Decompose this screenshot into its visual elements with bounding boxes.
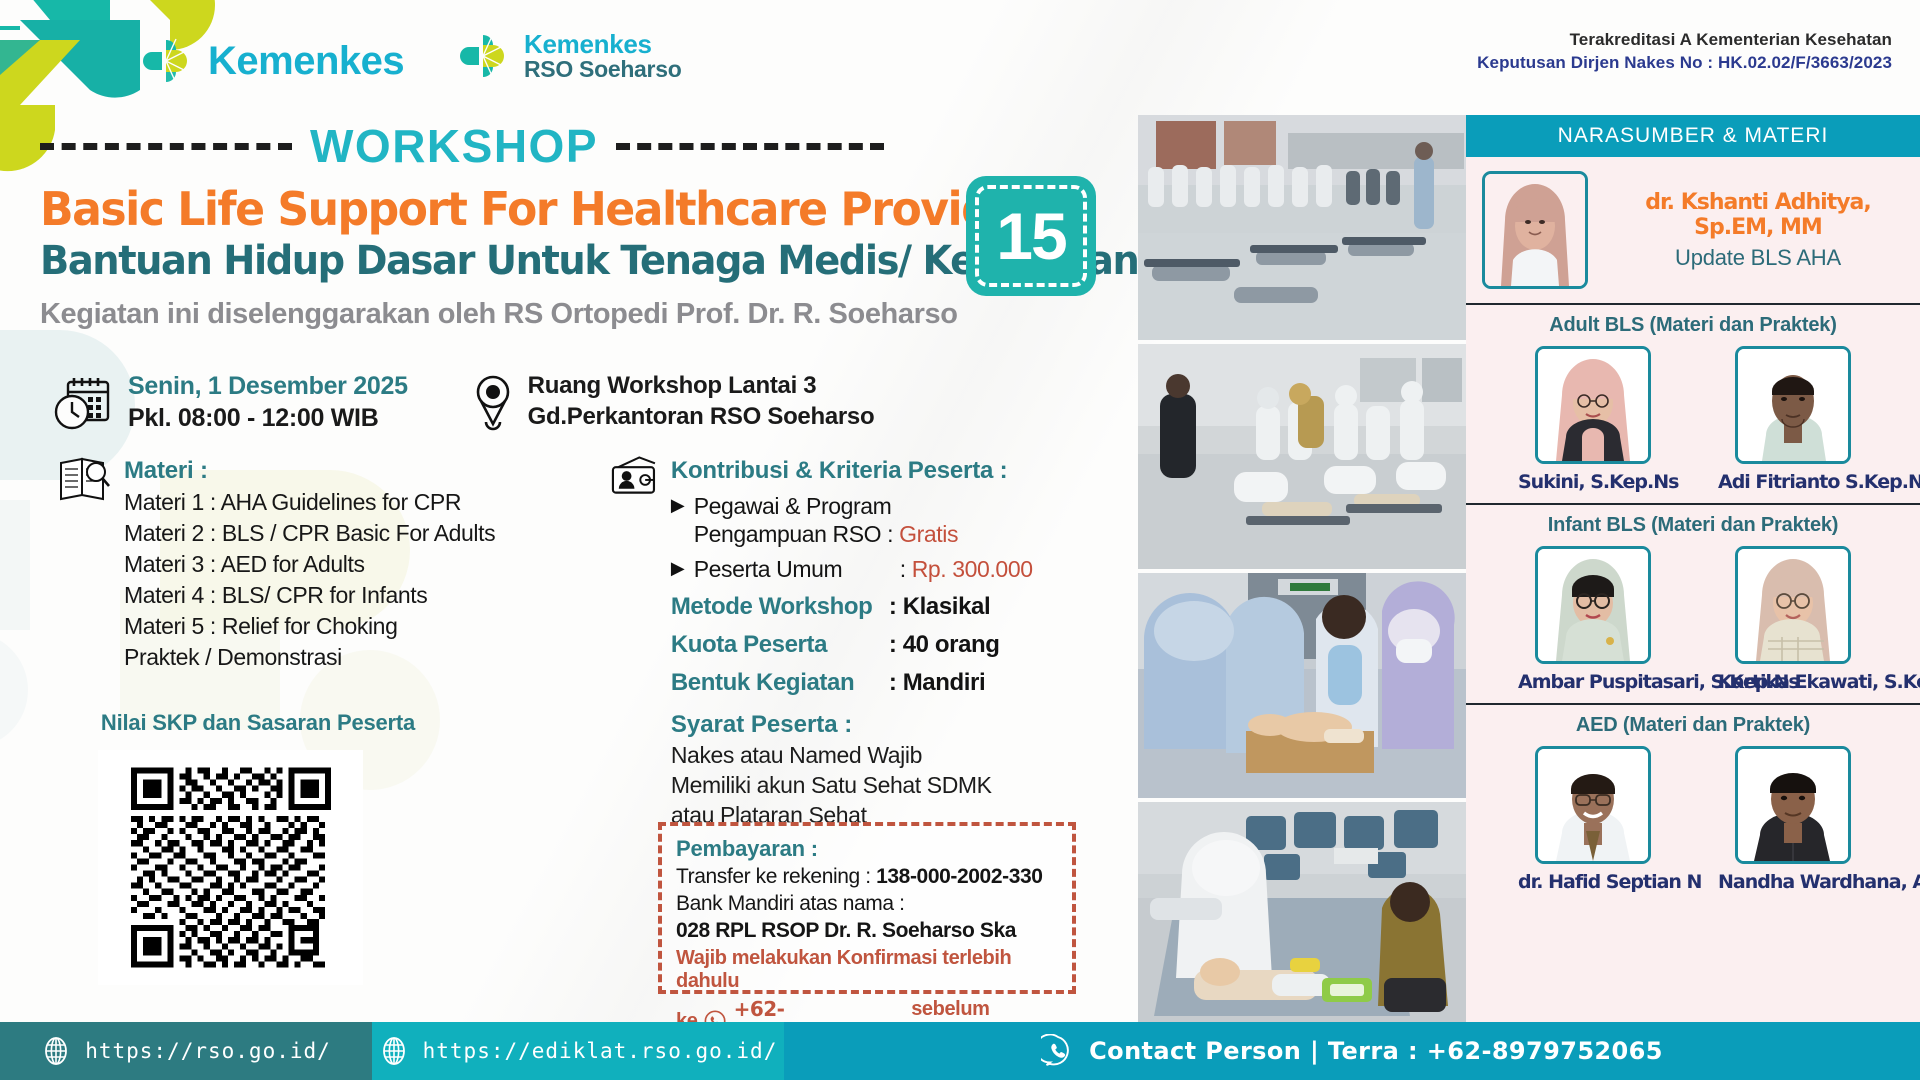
- payment-account-name: 028 RPL RSOP Dr. R. Soeharso Ska: [676, 919, 1016, 942]
- kontribusi-row-2: Peserta Umum : Rp. 300.000: [694, 555, 1033, 583]
- aed-speakers: dr. Hafid Septian N: [1466, 746, 1920, 893]
- title-main: Basic Life Support For Healthcare Provid…: [40, 182, 1096, 236]
- event-date: Senin, 1 Desember 2025: [128, 372, 408, 401]
- skp-block: Nilai SKP dan Sasaran Peserta: [98, 710, 418, 985]
- featured-speaker-photo-frame: [1482, 171, 1588, 289]
- kemenkes-logo: Kemenkes: [138, 36, 404, 86]
- wallet-member-icon: [610, 455, 659, 499]
- title-sub: Bantuan Hidup Dasar Untuk Tenaga Medis/ …: [40, 238, 1096, 284]
- footer-url-ediklat-cell[interactable]: https://ediklat.rso.go.id/: [372, 1022, 784, 1080]
- kontribusi-body: Kontribusi & Kriteria Peserta : ▶ Pegawa…: [671, 455, 1130, 829]
- logo-row: Kemenkes Kemenkes RSO Soeharso: [0, 0, 1160, 110]
- speaker-name: Nandha Wardhana, AMK: [1718, 871, 1868, 893]
- detail-key: Bentuk Kegiatan: [671, 669, 889, 697]
- speaker-cell: Kartika Ekawati, S.Kep.Ns: [1718, 546, 1868, 693]
- speakers-panel-title: NARASUMBER & MATERI: [1558, 124, 1829, 148]
- venue-item: Ruang Workshop Lantai 3 Gd.Perkantoran R…: [472, 372, 875, 434]
- speaker-name: dr. Hafid Septian N: [1518, 871, 1668, 893]
- footer-bar: https://rso.go.id/ https://ediklat.rso.g…: [0, 1022, 1920, 1080]
- materi-body: Materi : Materi 1 : AHA Guidelines for C…: [124, 455, 495, 671]
- edition-number: 15: [996, 198, 1065, 274]
- featured-speaker-name: dr. Kshanti Adhitya, Sp.EM, MM: [1606, 190, 1910, 240]
- speaker-photo-frame: [1535, 546, 1651, 664]
- portrait-hafid-septian: [1538, 749, 1648, 861]
- rso-wordmark-line1: Kemenkes: [524, 31, 681, 58]
- speaker-name: Ambar Puspitasari, S.Kep.Ns: [1518, 671, 1668, 693]
- whatsapp-phone-icon: [1041, 1034, 1075, 1068]
- venue-line-1: Ruang Workshop Lantai 3: [528, 372, 875, 400]
- workshop-kicker: WORKSHOP: [310, 119, 598, 173]
- schedule-block: Senin, 1 Desember 2025 Pkl. 08:00 - 12:0…: [52, 372, 1142, 434]
- kontribusi-heading: Kontribusi & Kriteria Peserta :: [671, 457, 1130, 485]
- globe-icon: [379, 1036, 409, 1066]
- kontribusi-label-1b-row: Pengampuan RSO : Gratis: [694, 520, 958, 548]
- adult-bls-speakers: Sukini, S.Kep.Ns: [1466, 346, 1920, 493]
- kemenkes-rso-logo: Kemenkes RSO Soeharso: [455, 30, 681, 82]
- payment-account-name-row: 028 RPL RSOP Dr. R. Soeharso Ska: [676, 919, 1058, 943]
- payment-account-number: 138-000-2002-330: [876, 865, 1042, 888]
- photo-group-cpr-practice: [1138, 344, 1466, 569]
- adult-bls-section: Adult BLS (Materi dan Praktek): [1466, 305, 1920, 505]
- syarat-line: Memiliki akun Satu Sehat SDMK: [671, 772, 1130, 799]
- workshop-kicker-row: WORKSHOP: [40, 122, 1140, 170]
- rso-wordmark-line2: RSO Soeharso: [524, 57, 681, 81]
- detail-row: Bentuk Kegiatan : Mandiri: [671, 669, 1130, 697]
- portrait-kartika-ekawati: [1738, 549, 1848, 661]
- speaker-cell: Nandha Wardhana, AMK: [1718, 746, 1868, 893]
- speaker-name: Adi Fitrianto S.Kep.Ns: [1718, 471, 1868, 493]
- syarat-line: Nakes atau Named Wajib: [671, 742, 1130, 769]
- aed-title: AED (Materi dan Praktek): [1466, 714, 1920, 737]
- portrait-nandha-wardhana: [1738, 749, 1848, 861]
- qr-code-container[interactable]: [98, 750, 363, 985]
- kontribusi-separator-2: :: [900, 556, 906, 582]
- event-photo-infant-practice: [1138, 573, 1466, 798]
- detail-row: Metode Workshop : Klasikal: [671, 593, 1130, 621]
- materi-item: Praktek / Demonstrasi: [124, 644, 495, 671]
- date-time-item: Senin, 1 Desember 2025 Pkl. 08:00 - 12:0…: [52, 372, 408, 434]
- infant-bls-title: Infant BLS (Materi dan Praktek): [1466, 514, 1920, 537]
- kontribusi-value-2: Rp. 300.000: [912, 556, 1033, 582]
- speaker-cell: Sukini, S.Kep.Ns: [1518, 346, 1668, 493]
- photo-aed-demonstration: [1138, 802, 1466, 1027]
- workshop-poster: Kemenkes Kemenkes RSO Soeharso Terakredi…: [0, 0, 1920, 1080]
- payment-heading: Pembayaran :: [676, 836, 1058, 862]
- portrait-ambar-puspitasari: [1538, 549, 1648, 661]
- edition-badge: 15: [966, 176, 1096, 296]
- materi-item: Materi 1 : AHA Guidelines for CPR: [124, 489, 495, 516]
- featured-speaker-topic: Update BLS AHA: [1606, 245, 1910, 271]
- featured-speaker-section: dr. Kshanti Adhitya, Sp.EM, MM Update BL…: [1466, 157, 1920, 305]
- portrait-sukini: [1538, 349, 1648, 461]
- detail-value: : 40 orang: [889, 631, 1000, 659]
- portrait-adi-fitrianto: [1738, 349, 1848, 461]
- portrait-kshanti-adhitya: [1485, 174, 1585, 286]
- detail-value: : Mandiri: [889, 669, 985, 697]
- detail-row: Kuota Peserta : 40 orang: [671, 631, 1130, 659]
- qr-code-icon[interactable]: [131, 760, 331, 975]
- payment-warning-line: Wajib melakukan Konfirmasi terlebih dahu…: [676, 947, 1058, 993]
- kontribusi-label-1b: Pengampuan RSO :: [694, 521, 893, 547]
- event-photo-aed-demo: [1138, 802, 1466, 1027]
- footer-contact-cell[interactable]: Contact Person | Terra : +62-8979752065: [784, 1022, 1920, 1080]
- infant-bls-speakers: Ambar Puspitasari, S.Kep.Ns: [1466, 546, 1920, 693]
- kontribusi-block: Kontribusi & Kriteria Peserta : ▶ Pegawa…: [610, 455, 1130, 829]
- triangle-bullet-icon: ▶: [671, 492, 685, 518]
- infant-bls-section: Infant BLS (Materi dan Praktek): [1466, 505, 1920, 705]
- dash-left-decoration: [40, 143, 292, 150]
- detail-value: : Klasikal: [889, 593, 990, 621]
- venue-line-2: Gd.Perkantoran RSO Soeharso: [528, 403, 875, 431]
- kemenkes-rso-flower-icon: [455, 30, 511, 82]
- speaker-name: Kartika Ekawati, S.Kep.Ns: [1718, 671, 1868, 693]
- footer-contact[interactable]: Contact Person | Terra : +62-8979752065: [1089, 1037, 1663, 1065]
- kontribusi-row: ▶ Peserta Umum : Rp. 300.000: [671, 555, 1130, 583]
- kontribusi-label-1a: Pegawai & Program: [694, 492, 958, 520]
- speaker-photo-frame: [1535, 746, 1651, 864]
- payment-bank-label: Bank Mandiri atas nama :: [676, 892, 1058, 916]
- adult-bls-title: Adult BLS (Materi dan Praktek): [1466, 314, 1920, 337]
- speaker-cell: Adi Fitrianto S.Kep.Ns: [1718, 346, 1868, 493]
- speaker-photo-frame: [1535, 346, 1651, 464]
- materi-item: Materi 4 : BLS/ CPR for Infants: [124, 582, 495, 609]
- kontribusi-value-1: Gratis: [899, 521, 958, 547]
- event-time: Pkl. 08:00 - 12:00 WIB: [128, 404, 408, 433]
- speakers-panel: NARASUMBER & MATERI dr. Kshanti Adhitya,…: [1466, 115, 1920, 1022]
- calendar-clock-icon: [52, 372, 114, 434]
- globe-icon: [41, 1036, 71, 1066]
- payment-box: Pembayaran : Transfer ke rekening : 138-…: [658, 822, 1076, 994]
- triangle-bullet-icon: ▶: [671, 555, 685, 581]
- dash-right-decoration: [616, 143, 884, 150]
- book-search-icon: [58, 455, 110, 501]
- kontribusi-label-2: Peserta Umum: [694, 555, 894, 583]
- materi-item: Materi 5 : Relief for Choking: [124, 613, 495, 640]
- kontribusi-row: ▶ Pegawai & Program Pengampuan RSO : Gra…: [671, 492, 1130, 548]
- event-photo-group-practice: [1138, 344, 1466, 569]
- speaker-photo-frame: [1735, 546, 1851, 664]
- kemenkes-flower-icon: [138, 36, 194, 86]
- event-photo-classroom: [1138, 115, 1466, 340]
- speaker-cell: Ambar Puspitasari, S.Kep.Ns: [1518, 546, 1668, 693]
- aed-section: AED (Materi dan Praktek): [1466, 705, 1920, 903]
- footer-url-main-cell[interactable]: https://rso.go.id/: [0, 1022, 372, 1080]
- kemenkes-wordmark: Kemenkes: [208, 39, 404, 84]
- featured-speaker-text: dr. Kshanti Adhitya, Sp.EM, MM Update BL…: [1606, 190, 1920, 271]
- payment-transfer-label: Transfer ke rekening :: [676, 865, 871, 888]
- materi-item: Materi 3 : AED for Adults: [124, 551, 495, 578]
- speaker-photo-frame: [1735, 746, 1851, 864]
- accreditation-line-2: Keputusan Dirjen Nakes No : HK.02.02/F/3…: [1477, 53, 1892, 73]
- speaker-cell: dr. Hafid Septian N: [1518, 746, 1668, 893]
- syarat-heading: Syarat Peserta :: [671, 711, 1130, 739]
- photo-infant-bls-practice: [1138, 573, 1466, 798]
- speaker-name: Sukini, S.Kep.Ns: [1518, 471, 1668, 493]
- speaker-photo-frame: [1735, 346, 1851, 464]
- photo-column: [1138, 115, 1466, 1031]
- footer-url-main[interactable]: https://rso.go.id/: [85, 1039, 331, 1063]
- location-pin-icon: [472, 372, 514, 434]
- materi-heading: Materi :: [124, 457, 495, 485]
- accreditation-line-1: Terakreditasi A Kementerian Kesehatan: [1477, 30, 1892, 50]
- speakers-panel-header: NARASUMBER & MATERI: [1466, 115, 1920, 157]
- materi-item: Materi 2 : BLS / CPR Basic For Adults: [124, 520, 495, 547]
- photo-classroom-bls-lecture: [1138, 115, 1466, 340]
- footer-url-ediklat[interactable]: https://ediklat.rso.go.id/: [423, 1039, 778, 1063]
- skp-title: Nilai SKP dan Sasaran Peserta: [98, 710, 418, 736]
- detail-key: Metode Workshop: [671, 593, 889, 621]
- payment-transfer-line: Transfer ke rekening : 138-000-2002-330: [676, 865, 1058, 889]
- organizer-line: Kegiatan ini diselenggarakan oleh RS Ort…: [40, 298, 1140, 331]
- accreditation-block: Terakreditasi A Kementerian Kesehatan Ke…: [1477, 30, 1892, 73]
- materi-block: Materi : Materi 1 : AHA Guidelines for C…: [58, 455, 578, 671]
- detail-key: Kuota Peserta: [671, 631, 889, 659]
